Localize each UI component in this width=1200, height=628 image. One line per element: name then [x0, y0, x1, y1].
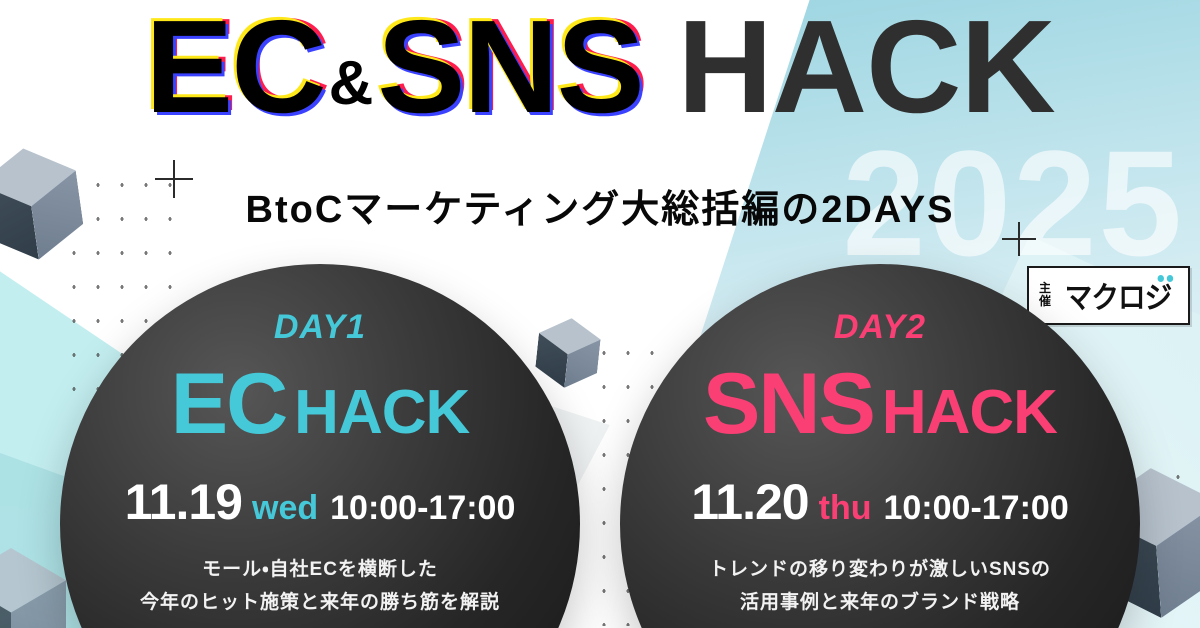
- day-date: 11.19: [125, 474, 242, 530]
- day-title-main: SNS: [703, 356, 874, 452]
- banner-headline: EC&SNS HACK: [0, 0, 1200, 137]
- headline-sns: SNS: [377, 0, 642, 137]
- day-title: ECHACK: [60, 361, 580, 447]
- day-weekday: wed: [252, 489, 318, 527]
- sponsor-host-label: 主 催: [1039, 282, 1051, 307]
- headline-ampersand: &: [325, 49, 378, 118]
- banner-subtitle: BtoCマーケティング大総括編の2DAYS: [0, 178, 1200, 233]
- subtitle-rest: マーケティング大総括編の2DAYS: [344, 189, 954, 231]
- day-time: 10:00-17:00: [330, 489, 515, 527]
- sponsor-kanji-line-2: 催: [1039, 295, 1051, 308]
- day-description: モール・自社ECを横断した 今年のヒット施策と来年の勝ち筋を解説: [60, 553, 580, 620]
- day-title-main: EC: [171, 356, 286, 452]
- day-weekday: thu: [819, 489, 872, 527]
- day-date-row: 11.20thu10:00-17:00: [620, 473, 1140, 531]
- day-description-line-1: トレンドの移り変わりが激しいSNSの: [620, 553, 1140, 586]
- day-description-line-2: 活用事例と来年のブランド戦略: [620, 586, 1140, 619]
- cube-icon: [534, 315, 603, 391]
- day-title-sub: HACK: [294, 378, 469, 447]
- cube-icon: [0, 548, 66, 628]
- headline-ec: EC: [145, 0, 324, 137]
- day-date: 11.20: [691, 474, 808, 530]
- headline-hack: HACK: [677, 0, 1054, 137]
- day-date-row: 11.19wed10:00-17:00: [60, 473, 580, 531]
- sponsor-badge: 主 催 マクロジ: [1027, 266, 1190, 325]
- subtitle-lead: BtoC: [246, 189, 345, 231]
- day-title: SNSHACK: [620, 361, 1140, 447]
- sponsor-name: マクロジ: [1065, 273, 1172, 317]
- event-banner: 2025 rketing EC&SNS HACK BtoCマーケティング大総括編…: [0, 0, 1200, 628]
- day-time: 10:00-17:00: [883, 489, 1068, 527]
- sponsor-name-text: マクロジ: [1065, 281, 1172, 316]
- dakuten-dots-icon: [1158, 275, 1174, 282]
- day-description-line-1: モール・自社ECを横断した: [60, 553, 580, 586]
- day-title-sub: HACK: [882, 378, 1057, 447]
- day-description-line-2: 今年のヒット施策と来年の勝ち筋を解説: [60, 586, 580, 619]
- day-description: トレンドの移り変わりが激しいSNSの 活用事例と来年のブランド戦略: [620, 553, 1140, 620]
